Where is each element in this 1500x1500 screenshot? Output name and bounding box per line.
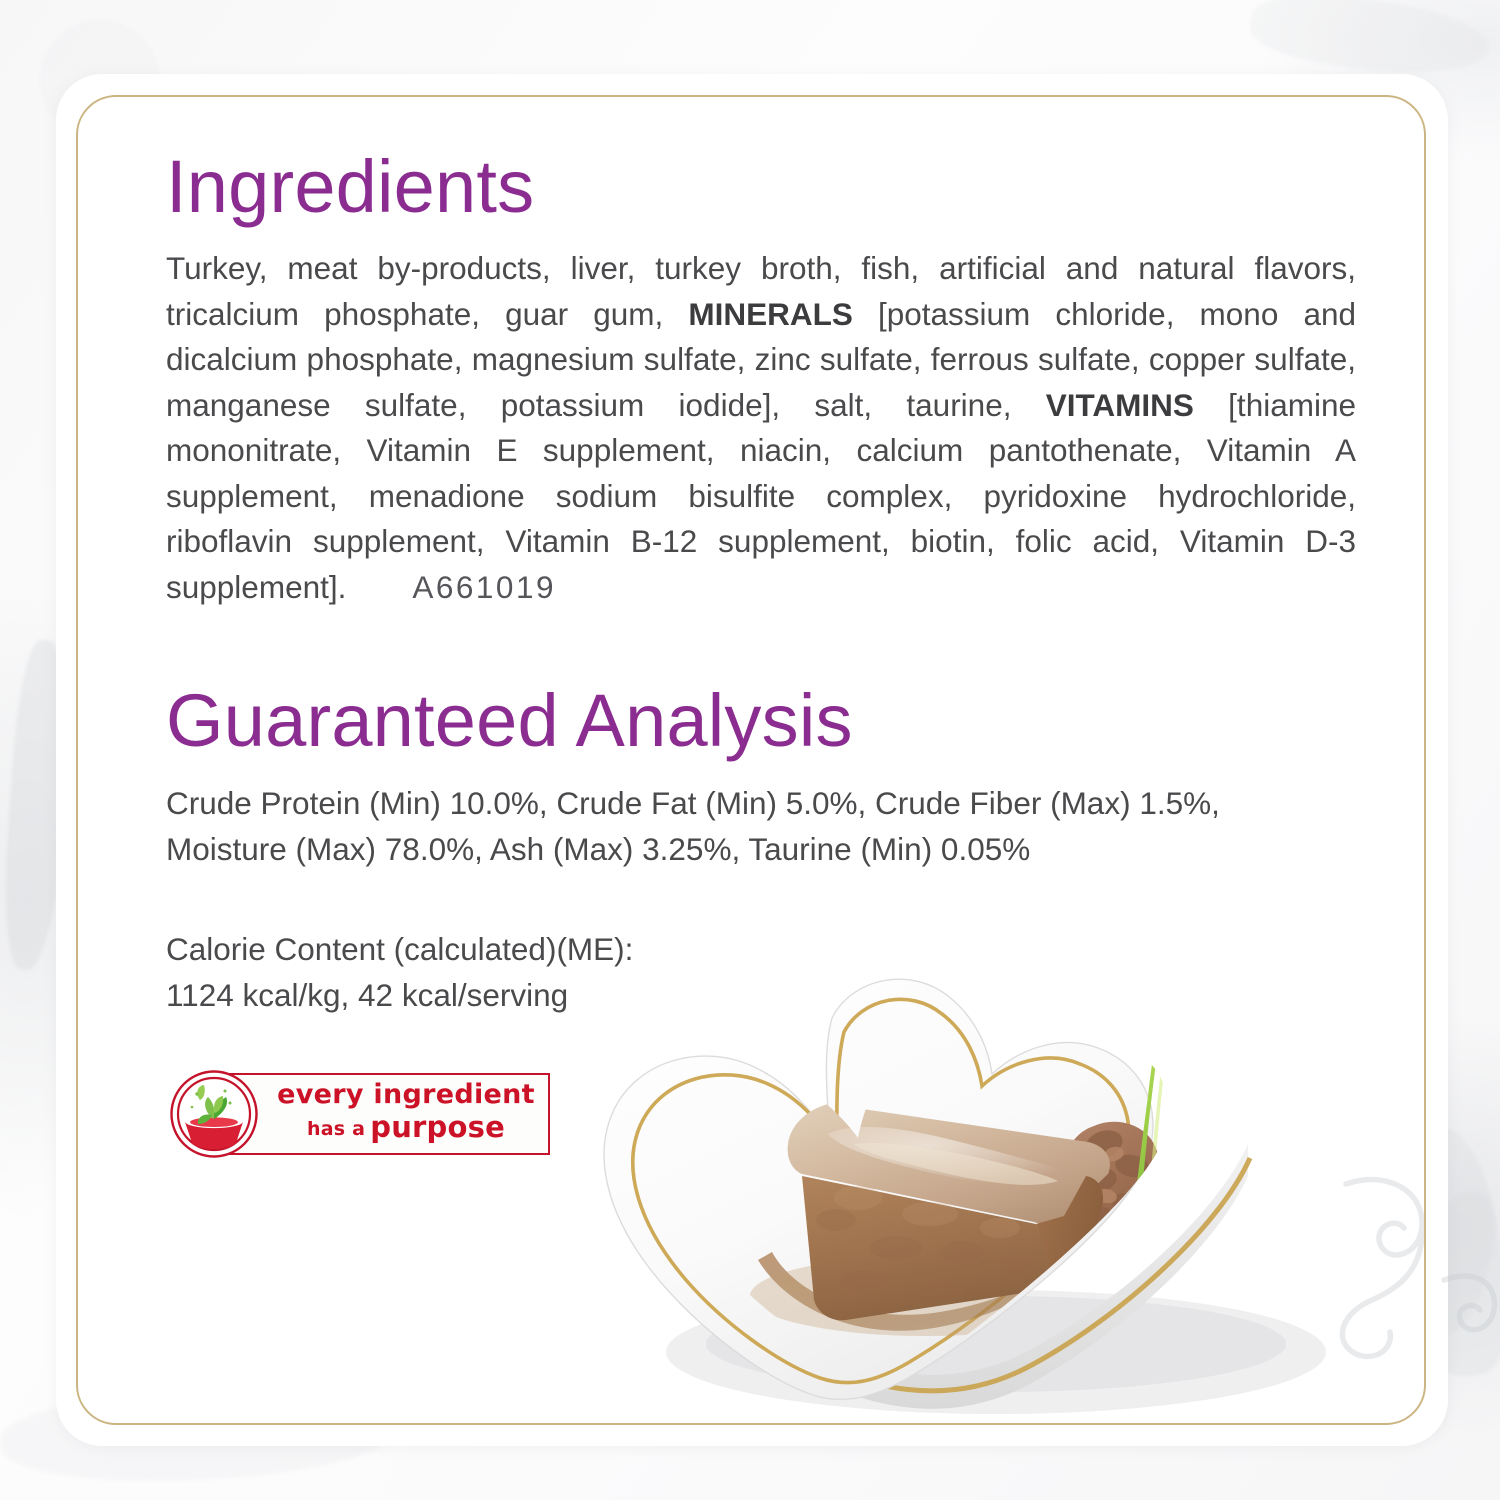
calorie-body: Calorie Content (calculated)(ME): 1124 k… [166,926,1356,1018]
guaranteed-analysis-section: Guaranteed Analysis Crude Protein (Min) … [166,684,1356,872]
label-page: Ingredients Turkey, meat by-products, li… [0,0,1500,1500]
purpose-badge-line-2: has a purpose [272,1111,540,1148]
purpose-badge-text: every ingredient has a purpose [272,1079,540,1148]
analysis-line-1: Crude Protein (Min) 10.0%, Crude Fat (Mi… [166,785,1220,821]
calorie-line-2: 1124 kcal/kg, 42 kcal/serving [166,977,568,1013]
purpose-badge-line-1: every ingredient [272,1079,540,1111]
purpose-badge-line-2-big: purpose [370,1110,505,1144]
minerals-label: MINERALS [688,296,853,332]
vitamins-label: VITAMINS [1046,387,1194,423]
guaranteed-analysis-heading: Guaranteed Analysis [166,684,1356,758]
lot-code: A661019 [412,569,556,605]
calorie-content-section: Calorie Content (calculated)(ME): 1124 k… [166,926,1356,1018]
ingredients-body: Turkey, meat by-products, liver, turkey … [166,246,1356,610]
analysis-body: Crude Protein (Min) 10.0%, Crude Fat (Mi… [166,780,1356,872]
label-content: Ingredients Turkey, meat by-products, li… [166,150,1356,1018]
pet-bowl-with-leaves-icon [168,1069,260,1159]
analysis-line-2: Moisture (Max) 78.0%, Ash (Max) 3.25%, T… [166,831,1030,867]
ingredients-heading: Ingredients [166,150,1356,224]
ingredients-section: Ingredients Turkey, meat by-products, li… [166,150,1356,610]
purpose-badge: every ingredient has a purpose [168,1069,550,1159]
calorie-line-1: Calorie Content (calculated)(ME): [166,931,633,967]
purpose-badge-line-2-small: has a [307,1118,365,1140]
